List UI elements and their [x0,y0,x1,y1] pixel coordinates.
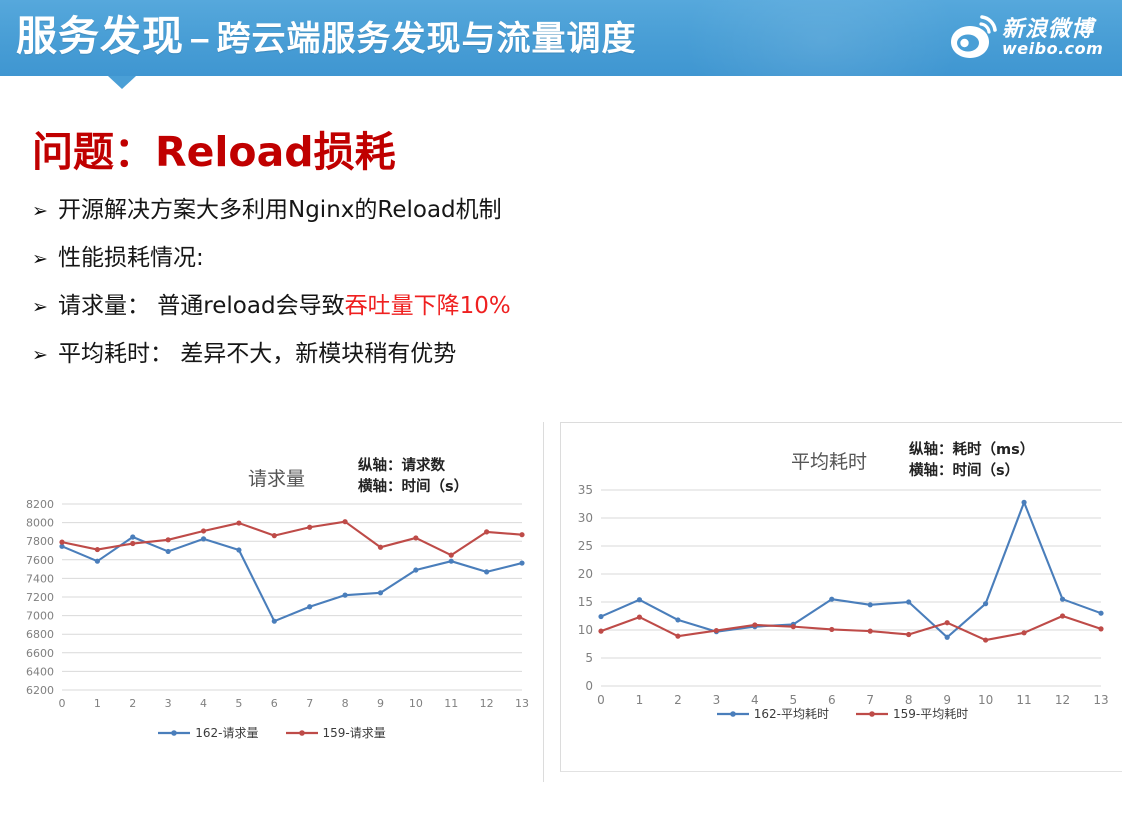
series-marker [868,629,873,634]
series-marker [1060,613,1065,618]
series-marker [484,529,489,534]
series-marker [1021,630,1026,635]
bullet-arrow-icon: ➢ [32,344,58,366]
series-marker [1098,611,1103,616]
x-axis-tick-label: 0 [59,697,66,710]
weibo-logo-cn: 新浪微博 [1002,18,1103,41]
y-axis-tick-label: 8200 [26,498,54,511]
legend-item[interactable]: 159-平均耗时 [855,705,968,722]
weibo-logo-text: 新浪微博 weibo.com [1002,18,1103,58]
weibo-logo-en: weibo.com [1002,41,1103,58]
y-axis-tick-label: 35 [578,483,593,497]
y-axis-tick-label: 20 [578,567,593,581]
chart-requests-legend: 162-请求量159-请求量 [0,724,543,741]
y-axis-tick-label: 7200 [26,591,54,604]
legend-label: 162-请求量 [195,724,258,741]
list-item: ➢ 开源解决方案大多利用Nginx的Reload机制 [32,190,732,224]
series-marker [1060,597,1065,602]
series-marker [945,620,950,625]
y-axis-tick-label: 6200 [26,684,54,697]
series-marker [449,553,454,558]
legend-label: 162-平均耗时 [754,705,829,722]
series-marker [59,540,64,545]
series-marker [829,627,834,632]
y-axis-tick-label: 10 [578,623,593,637]
y-axis-tick-label: 7400 [26,572,54,585]
x-axis-tick-label: 2 [129,697,136,710]
series-line [601,502,1101,637]
series-marker [236,520,241,525]
series-marker [983,601,988,606]
series-marker [413,567,418,572]
y-axis-tick-label: 6800 [26,628,54,641]
series-marker [983,637,988,642]
series-marker [130,534,135,539]
y-axis-tick-label: 8000 [26,517,54,530]
series-marker [307,604,312,609]
chart-avg-latency: 平均耗时 纵轴：耗时（ms） 横轴：时间（s） 0510152025303501… [560,422,1122,772]
x-axis-tick-label: 12 [480,697,494,710]
legend-label: 159-平均耗时 [893,705,968,722]
banner-title-main: 服务发现 [16,12,184,60]
y-axis-tick-label: 0 [585,679,593,693]
list-item: ➢ 平均耗时： 差异不大，新模块稍有优势 [32,334,732,368]
series-marker [868,602,873,607]
x-axis-tick-label: 3 [165,697,172,710]
x-axis-tick-label: 9 [377,697,384,710]
series-marker [449,559,454,564]
series-marker [272,619,277,624]
series-marker [598,629,603,634]
weibo-eye-logo-icon [948,12,1000,64]
list-item: ➢ 性能损耗情况: [32,238,732,272]
series-marker [637,597,642,602]
series-marker [95,559,100,564]
y-axis-tick-label: 15 [578,595,593,609]
series-marker [342,593,347,598]
header-banner: 服务发现–跨云端服务发现与流量调度 新浪微博 weibo.com [0,0,1122,76]
list-item: ➢ 请求量： 普通reload会导致吞吐量下降10% [32,286,732,320]
legend-item[interactable]: 162-请求量 [157,724,258,741]
series-marker [484,569,489,574]
x-axis-tick-label: 6 [271,697,278,710]
series-marker [272,533,277,538]
x-axis-tick-label: 13 [515,697,529,710]
series-marker [378,590,383,595]
series-marker [945,635,950,640]
bullet-arrow-icon: ➢ [32,296,58,318]
y-axis-tick-label: 6600 [26,647,54,660]
legend-label: 159-请求量 [323,724,386,741]
y-axis-tick-label: 7000 [26,610,54,623]
y-axis-tick-label: 5 [585,651,593,665]
weibo-logo: 新浪微博 weibo.com [948,8,1108,68]
series-marker [519,532,524,537]
list-item-label: 平均耗时： 差异不大，新模块稍有优势 [58,334,456,368]
x-axis-tick-label: 5 [235,697,242,710]
banner-title: 服务发现–跨云端服务发现与流量调度 [16,6,636,66]
series-marker [342,519,347,524]
legend-swatch-icon [157,727,191,739]
legend-swatch-icon [855,708,889,720]
series-marker [752,622,757,627]
x-axis-tick-label: 7 [306,697,313,710]
series-marker [201,528,206,533]
bullet-arrow-icon: ➢ [32,248,58,270]
x-axis-tick-label: 10 [409,697,423,710]
series-marker [95,547,100,552]
series-marker [791,624,796,629]
series-marker [378,545,383,550]
series-marker [201,536,206,541]
banner-title-dash: – [184,19,216,58]
list-item-label: 请求量： 普通reload会导致吞吐量下降10% [58,286,511,320]
y-axis-tick-label: 7800 [26,535,54,548]
legend-item[interactable]: 159-请求量 [285,724,386,741]
x-axis-tick-label: 11 [444,697,458,710]
list-item-label: 性能损耗情况: [58,238,204,272]
legend-swatch-icon [716,708,750,720]
series-marker [166,537,171,542]
series-marker [829,597,834,602]
y-axis-tick-label: 25 [578,539,593,553]
y-axis-tick-label: 30 [578,511,593,525]
series-marker [675,634,680,639]
y-axis-tick-label: 7600 [26,554,54,567]
chart-avg-latency-legend: 162-平均耗时159-平均耗时 [561,705,1122,722]
series-marker [1098,626,1103,631]
series-marker [598,614,603,619]
banner-title-sub: 跨云端服务发现与流量调度 [216,19,636,59]
x-axis-tick-label: 8 [342,697,349,710]
x-axis-tick-label: 4 [200,697,207,710]
series-line [62,537,522,621]
list-item-label: 开源解决方案大多利用Nginx的Reload机制 [58,190,502,224]
series-marker [675,617,680,622]
bullet-arrow-icon: ➢ [32,200,58,222]
bullet-list: ➢ 开源解决方案大多利用Nginx的Reload机制 ➢ 性能损耗情况: ➢ 请… [32,190,732,382]
series-marker [519,560,524,565]
series-marker [906,632,911,637]
legend-swatch-icon [285,727,319,739]
series-marker [236,547,241,552]
page-title: 问题：Reload损耗 [32,118,396,178]
chart-requests: 请求量 纵轴：请求数 横轴：时间（s） 62006400660068007000… [0,422,544,782]
legend-item[interactable]: 162-平均耗时 [716,705,829,722]
series-marker [413,535,418,540]
series-marker [166,549,171,554]
series-marker [130,541,135,546]
series-marker [906,599,911,604]
x-axis-tick-label: 1 [94,697,101,710]
series-marker [637,615,642,620]
series-marker [714,628,719,633]
banner-notch [108,76,136,89]
series-marker [1021,500,1026,505]
y-axis-tick-label: 6400 [26,665,54,678]
series-marker [307,525,312,530]
